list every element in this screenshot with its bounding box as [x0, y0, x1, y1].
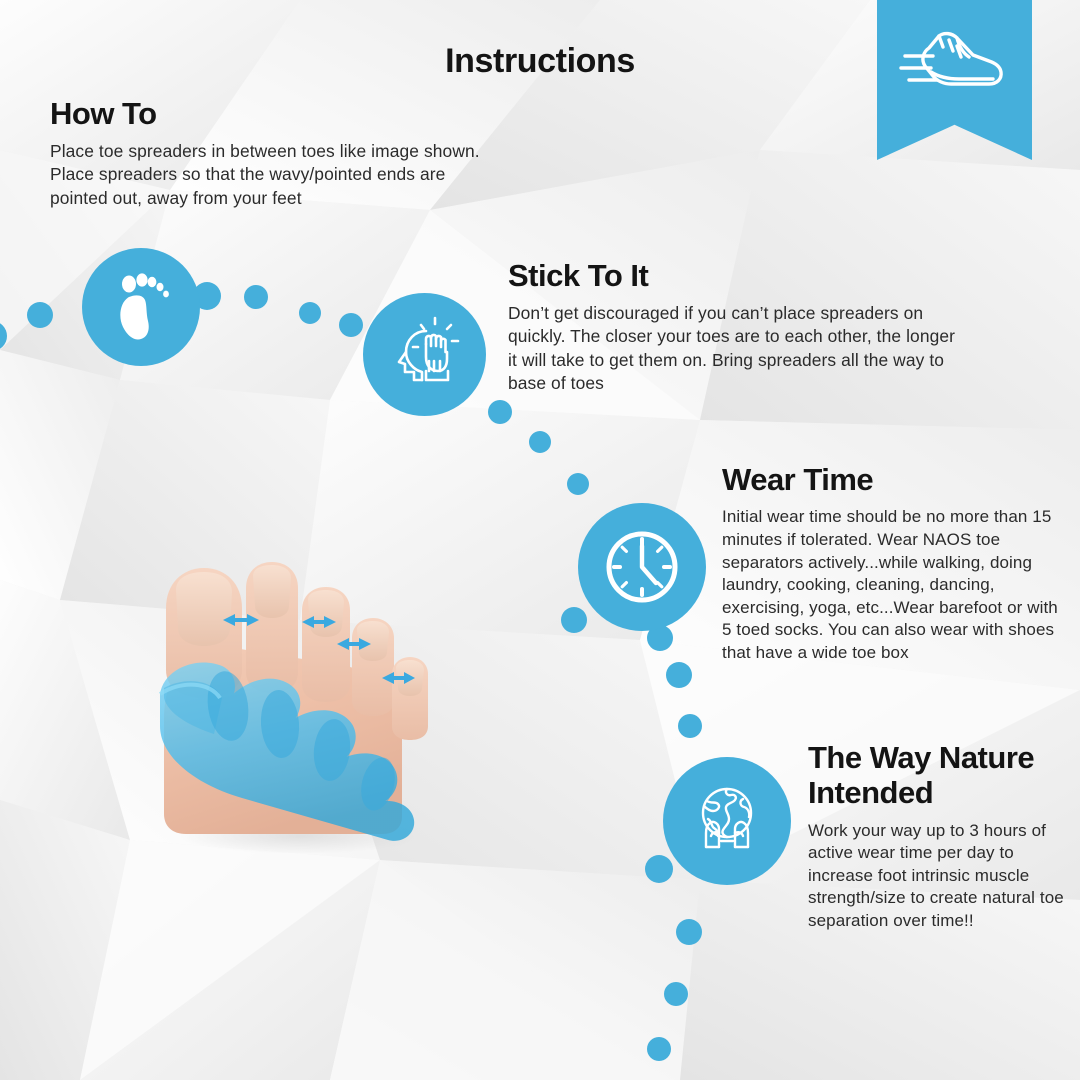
section-the-way-nature-intended: The Way Nature Intended Work your way up… — [808, 740, 1070, 933]
trail-dot — [561, 607, 587, 633]
page-title: Instructions — [0, 42, 1080, 81]
trail-dot — [244, 285, 268, 309]
section-wear-time-title: Wear Time — [722, 462, 1070, 497]
head-with-fist-glyph — [384, 314, 466, 396]
hands-holding-globe-glyph — [681, 775, 773, 867]
product-photo-foot-with-toe-separators — [150, 548, 442, 853]
trail-dot — [678, 714, 702, 738]
section-stick-to-it: Stick To It Don’t get discouraged if you… — [508, 258, 960, 395]
section-stick-to-it-body: Don’t get discouraged if you can’t place… — [508, 302, 960, 395]
section-stick-to-it-title: Stick To It — [508, 258, 960, 293]
trail-dot — [339, 313, 363, 337]
trail-dot — [567, 473, 589, 495]
section-wear-time: Wear Time Initial wear time should be no… — [722, 462, 1070, 665]
section-the-way-nature-intended-body: Work your way up to 3 hours of active we… — [808, 820, 1070, 933]
section-how-to: How To Place toe spreaders in between to… — [50, 96, 490, 210]
clock-icon — [578, 503, 706, 631]
infographic-page: Instructions How To Place toe spreaders … — [0, 0, 1080, 1080]
footprint-icon — [82, 248, 200, 366]
section-wear-time-body: Initial wear time should be no more than… — [722, 506, 1070, 664]
trail-dot — [645, 855, 673, 883]
hands-holding-globe-icon — [663, 757, 791, 885]
section-how-to-title: How To — [50, 96, 490, 131]
footprint-glyph — [109, 269, 173, 345]
trail-dot — [27, 302, 53, 328]
trail-dot — [664, 982, 688, 1006]
trail-dot — [647, 1037, 671, 1061]
trail-dot — [529, 431, 551, 453]
trail-dot — [676, 919, 702, 945]
head-with-fist-icon — [363, 293, 486, 416]
trail-dot — [488, 400, 512, 424]
clock-glyph — [594, 519, 690, 615]
section-how-to-body: Place toe spreaders in between toes like… — [50, 140, 490, 209]
section-the-way-nature-intended-title: The Way Nature Intended — [808, 740, 1070, 811]
trail-dot — [299, 302, 321, 324]
trail-dot — [666, 662, 692, 688]
